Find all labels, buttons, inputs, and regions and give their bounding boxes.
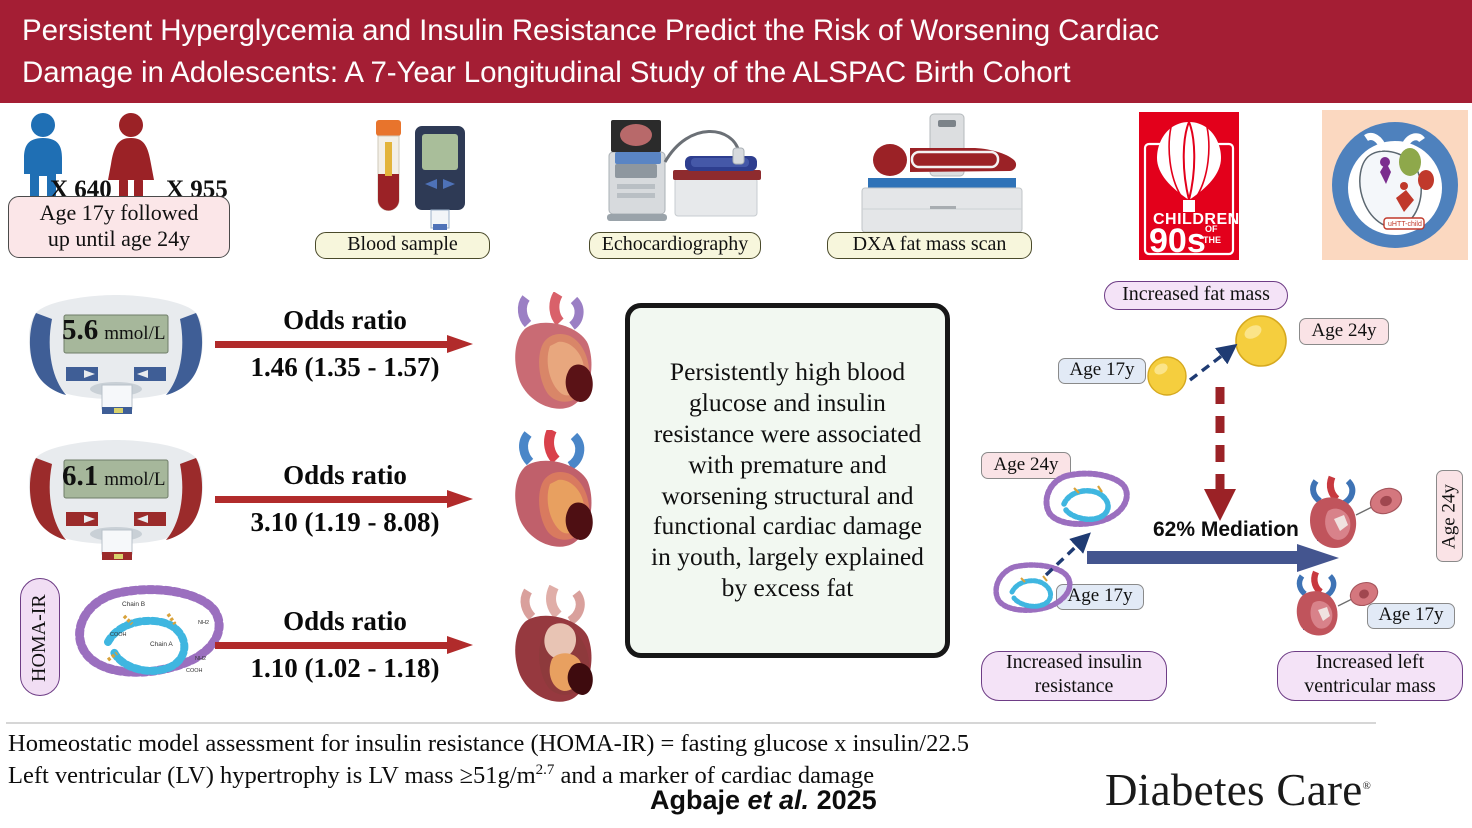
chain-a-label: Chain A bbox=[150, 641, 173, 648]
footer-note-2-sup: 2.7 bbox=[536, 762, 555, 778]
authors-citation: Agbaje et al. 2025 bbox=[650, 785, 877, 816]
chain-b-label: Chain B bbox=[122, 601, 145, 608]
svg-text:NH2: NH2 bbox=[195, 656, 206, 662]
graphical-abstract: Persistent Hyperglycemia and Insulin Res… bbox=[0, 0, 1472, 828]
odds-ratio-title-3: Odds ratio bbox=[215, 608, 475, 635]
glucometer-icon-1 bbox=[18, 293, 214, 415]
fat-cell-icon-17y bbox=[1146, 355, 1188, 397]
glucose-value-1: 5.6 bbox=[62, 313, 98, 347]
glucose-reading-2: 6.1 mmol/L bbox=[62, 459, 165, 493]
fat-age-17y-label: Age 17y bbox=[1058, 358, 1146, 384]
svg-text:OF: OF bbox=[1205, 224, 1218, 234]
odds-ratio-block-3: Odds ratio 1.10 (1.02 - 1.18) bbox=[215, 608, 475, 682]
footer-note-2-pre: Left ventricular (LV) hypertrophy is LV … bbox=[8, 762, 536, 789]
odds-ratio-arrow-1 bbox=[215, 336, 475, 352]
insulin-label-line-1: Increased insulin bbox=[1006, 651, 1142, 675]
glucose-unit-1: mmol/L bbox=[104, 323, 165, 345]
increased-lv-mass-label: Increased left ventricular mass bbox=[1277, 651, 1463, 701]
title-line-2: Damage in Adolescents: A 7-Year Longitud… bbox=[22, 52, 1454, 94]
journal-logo: Diabetes Care® bbox=[1105, 764, 1371, 816]
glucometer-icon-2 bbox=[18, 438, 214, 564]
conclusion-text: Persistently high blood glucose and insu… bbox=[646, 357, 929, 605]
authors-name: Agbaje bbox=[650, 785, 748, 815]
dxa-scan-icon bbox=[852, 112, 1030, 234]
odds-ratio-block-1: Odds ratio 1.46 (1.35 - 1.57) bbox=[215, 307, 475, 381]
authors-etal: et al. bbox=[748, 785, 810, 815]
mediation-percent-label: 62% Mediation bbox=[1153, 518, 1299, 542]
svg-text:NH2: NH2 bbox=[198, 620, 209, 626]
echocardiography-label: Echocardiography bbox=[589, 232, 761, 259]
homa-ir-side-label: HOMA-IR bbox=[20, 578, 60, 696]
footer-note-1: Homeostatic model assessment for insulin… bbox=[8, 730, 969, 758]
svg-text:90s: 90s bbox=[1149, 222, 1206, 260]
lvm-age-24y-label: Age 24y bbox=[1436, 470, 1463, 562]
conclusion-box: Persistently high blood glucose and insu… bbox=[625, 303, 950, 658]
lvm-label-line-2: ventricular mass bbox=[1304, 675, 1436, 699]
glucose-unit-2: mmol/L bbox=[104, 469, 165, 491]
footer-divider bbox=[6, 722, 1376, 724]
increased-insulin-resistance-label: Increased insulin resistance bbox=[981, 651, 1167, 701]
journal-name: Diabetes Care bbox=[1105, 765, 1363, 815]
glucose-value-2: 6.1 bbox=[62, 459, 98, 493]
heart-damage-icon-1 bbox=[500, 292, 612, 420]
svg-text:uHTT-child: uHTT-child bbox=[1388, 221, 1422, 228]
svg-text:THE: THE bbox=[1203, 235, 1221, 245]
dxa-scan-label: DXA fat mass scan bbox=[827, 232, 1032, 259]
odds-ratio-arrow-2 bbox=[215, 491, 475, 507]
registered-trademark-icon: ® bbox=[1363, 780, 1372, 792]
svg-text:COOH: COOH bbox=[110, 632, 127, 638]
followup-line-2: up until age 24y bbox=[48, 226, 190, 252]
odds-ratio-value-3: 1.10 (1.02 - 1.18) bbox=[215, 654, 475, 682]
heart-myocyte-icon-24y bbox=[1300, 475, 1404, 551]
authors-year: 2025 bbox=[809, 785, 877, 815]
echocardiography-icon bbox=[593, 112, 763, 232]
insulin-label-line-2: resistance bbox=[1035, 675, 1114, 699]
blood-sample-icon bbox=[352, 112, 472, 232]
mediator-arrow bbox=[1200, 385, 1240, 525]
odds-ratio-block-2: Odds ratio 3.10 (1.19 - 8.08) bbox=[215, 462, 475, 536]
children-of-the-90s-logo: CHILDREN 90s OF THE bbox=[1139, 112, 1239, 260]
lvm-label-line-1: Increased left bbox=[1316, 651, 1424, 675]
increased-fat-mass-label: Increased fat mass bbox=[1104, 281, 1288, 310]
odds-ratio-value-1: 1.46 (1.35 - 1.57) bbox=[215, 353, 475, 381]
fat-progression-arrow bbox=[1186, 338, 1246, 386]
followup-line-1: Age 17y followed bbox=[40, 200, 199, 226]
followup-label: Age 17y followed up until age 24y bbox=[8, 196, 230, 258]
odds-ratio-title-2: Odds ratio bbox=[215, 462, 475, 489]
insulin-molecule-icon-24y bbox=[1040, 468, 1136, 532]
blood-sample-label: Blood sample bbox=[315, 232, 490, 259]
odds-ratio-title-1: Odds ratio bbox=[215, 307, 475, 334]
research-group-logo: uHTT-child bbox=[1322, 110, 1468, 260]
odds-ratio-arrow-3 bbox=[215, 637, 475, 653]
title-banner: Persistent Hyperglycemia and Insulin Res… bbox=[0, 0, 1472, 103]
heart-myocyte-icon-17y bbox=[1288, 570, 1380, 638]
lvm-age-17y-label: Age 17y bbox=[1367, 603, 1455, 629]
heart-damage-icon-3 bbox=[500, 585, 612, 710]
glucose-reading-1: 5.6 mmol/L bbox=[62, 313, 165, 347]
title-line-1: Persistent Hyperglycemia and Insulin Res… bbox=[22, 10, 1454, 52]
odds-ratio-value-2: 3.10 (1.19 - 8.08) bbox=[215, 508, 475, 536]
fat-age-24y-label: Age 24y bbox=[1299, 318, 1389, 345]
svg-text:COOH: COOH bbox=[186, 668, 203, 674]
heart-damage-icon-2 bbox=[500, 430, 612, 558]
